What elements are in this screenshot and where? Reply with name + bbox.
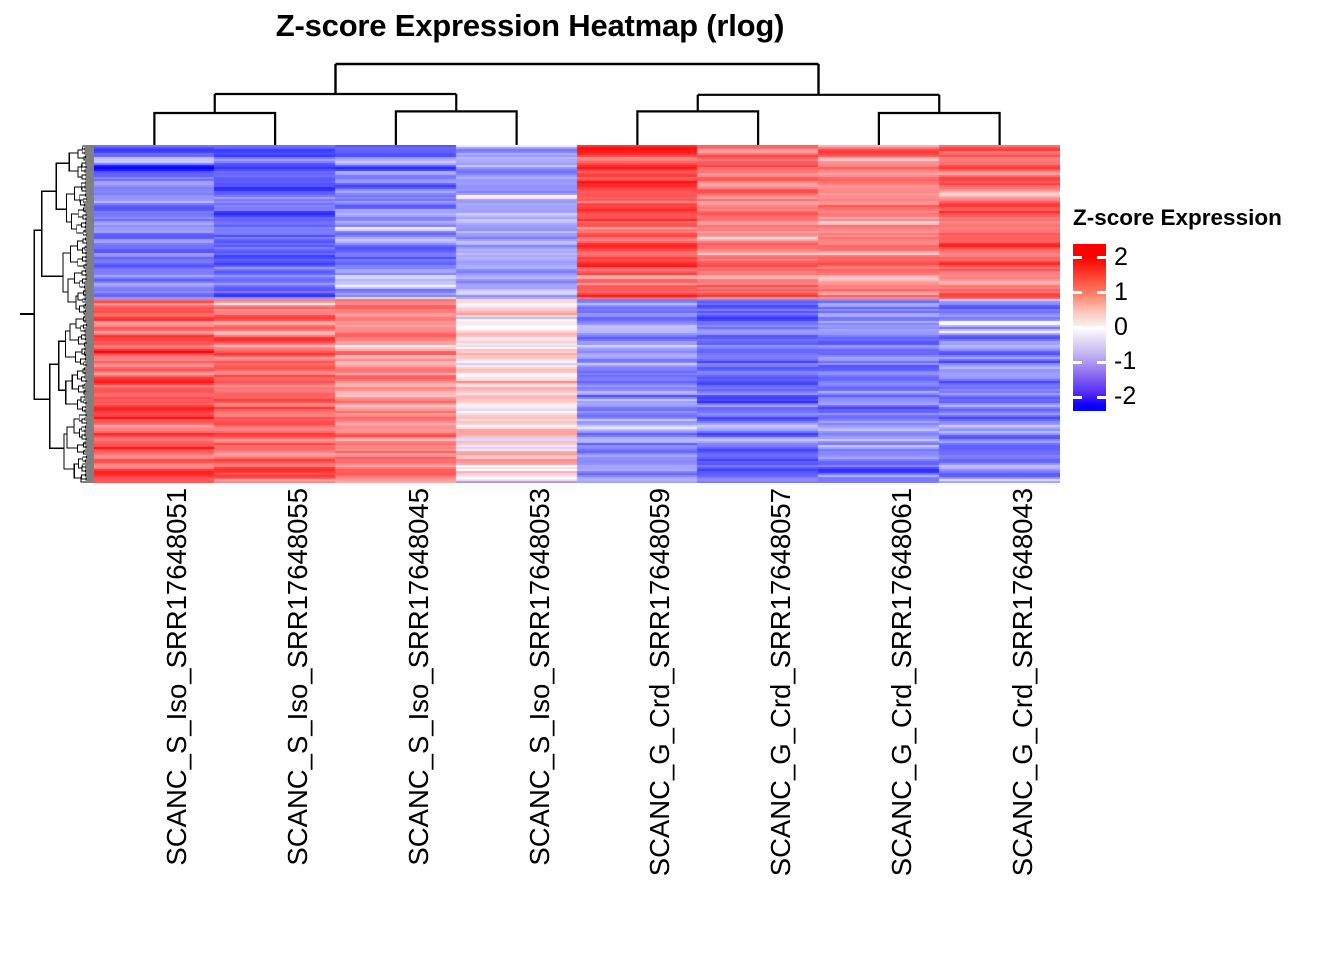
legend: Z-score Expression 210-1-2 (1070, 205, 1340, 420)
colorbar-tick-label: -1 (1114, 349, 1136, 374)
column-label-text: SCANC_S_Iso_SRR17648051 (163, 488, 191, 866)
colorbar-tick (1073, 326, 1082, 329)
column-label-text: SCANC_G_Crd_SRR17648059 (646, 488, 674, 876)
column-label: SCANC_G_Crd_SRR17648043 (1000, 488, 1028, 876)
legend-title: Z-score Expression (1073, 205, 1282, 231)
colorbar-tick (1073, 361, 1082, 364)
column-label-text: SCANC_G_Crd_SRR17648061 (888, 488, 916, 876)
column-label: SCANC_S_Iso_SRR17648045 (396, 488, 424, 866)
column-label-text: SCANC_G_Crd_SRR17648057 (767, 488, 795, 876)
colorbar-tick-label: -2 (1114, 384, 1136, 409)
colorbar-tick-label: 0 (1114, 315, 1128, 340)
colorbar-tick (1097, 396, 1106, 399)
colorbar-tick (1073, 291, 1082, 294)
column-label-text: SCANC_G_Crd_SRR17648043 (1009, 488, 1037, 876)
page-title: Z-score Expression Heatmap (rlog) (0, 8, 1060, 44)
column-dendrogram (94, 60, 1060, 145)
column-labels: SCANC_S_Iso_SRR17648051SCANC_S_Iso_SRR17… (94, 488, 1060, 928)
heatmap-grid (94, 145, 1060, 483)
column-label: SCANC_G_Crd_SRR17648057 (758, 488, 786, 876)
colorbar-tick (1097, 291, 1106, 294)
column-label: SCANC_S_Iso_SRR17648053 (517, 488, 545, 866)
column-label: SCANC_S_Iso_SRR17648051 (154, 488, 182, 866)
colorbar-tick (1097, 326, 1106, 329)
colorbar-tick (1097, 361, 1106, 364)
colorbar-tick (1097, 256, 1106, 259)
colorbar-tick (1073, 396, 1082, 399)
row-dendrogram (20, 145, 94, 483)
heatmap-figure: Z-score Expression Heatmap (rlog) SCANC_… (0, 0, 1344, 960)
column-label-text: SCANC_S_Iso_SRR17648045 (405, 488, 433, 866)
column-label-text: SCANC_S_Iso_SRR17648053 (526, 488, 554, 866)
column-label: SCANC_G_Crd_SRR17648061 (879, 488, 907, 876)
colorbar-tick-label: 2 (1114, 245, 1128, 270)
column-label: SCANC_S_Iso_SRR17648055 (275, 488, 303, 866)
colorbar-tick-label: 1 (1114, 280, 1128, 305)
column-label-text: SCANC_S_Iso_SRR17648055 (284, 488, 312, 866)
column-label: SCANC_G_Crd_SRR17648059 (637, 488, 665, 876)
colorbar-tick (1073, 256, 1082, 259)
